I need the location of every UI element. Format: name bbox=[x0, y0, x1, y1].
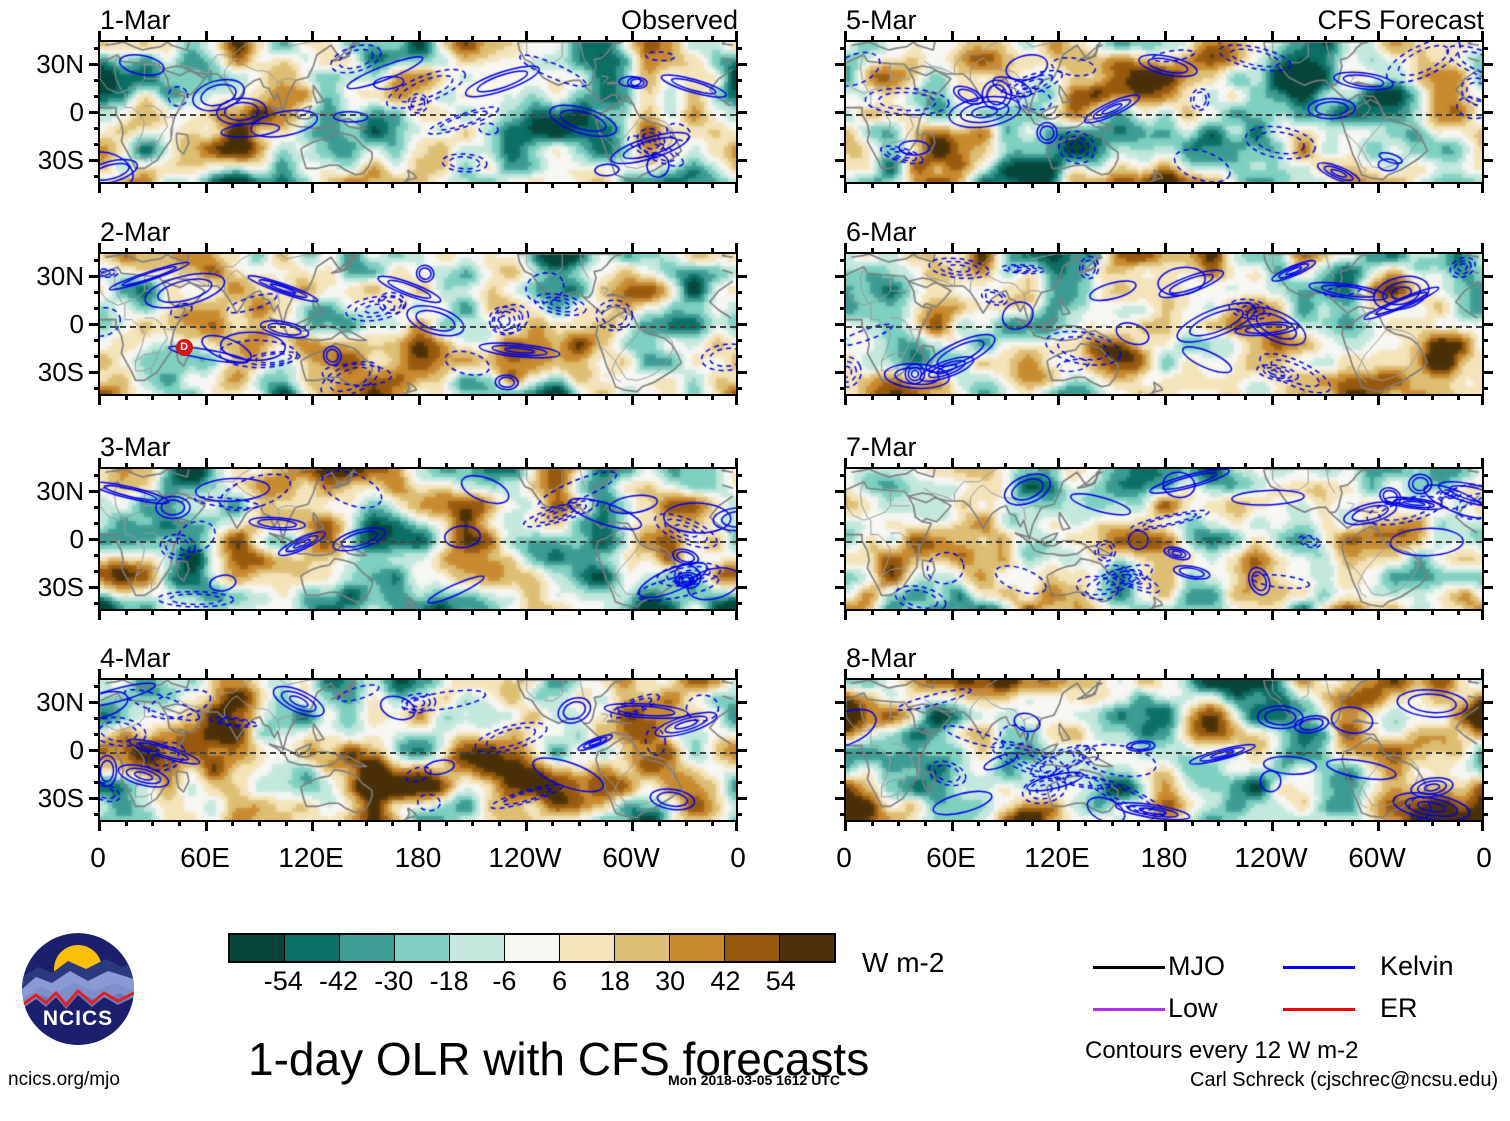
x-axis-tick bbox=[1191, 36, 1194, 42]
x-axis-tick bbox=[1084, 674, 1087, 680]
x-axis-tick bbox=[1084, 36, 1087, 42]
y-axis-tick bbox=[736, 323, 747, 326]
x-axis-label: 60E bbox=[891, 844, 1011, 872]
x-axis-tick bbox=[1031, 463, 1034, 469]
x-axis-tick bbox=[525, 820, 528, 831]
y-axis-tick bbox=[1482, 506, 1488, 509]
y-axis-label: 30S bbox=[4, 147, 84, 173]
contours-interval-note: Contours every 12 W m-2 bbox=[1085, 1039, 1358, 1063]
panel-title: 7-Mar bbox=[846, 434, 917, 461]
y-axis-tick bbox=[94, 259, 100, 262]
x-axis-tick bbox=[1004, 36, 1007, 42]
x-axis-tick bbox=[1271, 182, 1274, 193]
x-axis-tick bbox=[1271, 820, 1274, 831]
x-axis-tick bbox=[1031, 609, 1034, 615]
x-axis-tick bbox=[311, 609, 314, 620]
y-axis-tick bbox=[1482, 490, 1493, 493]
x-axis-tick bbox=[951, 609, 954, 620]
x-axis-tick bbox=[735, 182, 738, 193]
x-axis-tick bbox=[1481, 669, 1484, 680]
x-axis-tick bbox=[685, 463, 688, 469]
x-axis-tick bbox=[685, 394, 688, 400]
map-area[interactable] bbox=[98, 678, 738, 822]
x-axis-tick bbox=[1351, 609, 1354, 615]
x-axis-tick bbox=[1377, 458, 1380, 469]
y-axis-tick bbox=[736, 95, 742, 98]
x-axis-tick bbox=[1031, 394, 1034, 400]
x-axis-tick bbox=[338, 674, 341, 680]
x-axis-tick bbox=[258, 820, 261, 826]
x-axis-tick bbox=[98, 609, 101, 620]
x-axis-tick bbox=[205, 243, 208, 254]
y-axis-tick bbox=[736, 749, 747, 752]
x-axis-tick bbox=[525, 243, 528, 254]
x-axis-tick bbox=[1351, 463, 1354, 469]
x-axis-tick bbox=[897, 674, 900, 680]
y-axis-tick bbox=[840, 570, 846, 573]
x-axis-tick bbox=[871, 463, 874, 469]
x-axis-tick bbox=[471, 674, 474, 680]
x-axis-tick bbox=[1137, 674, 1140, 680]
y-axis-tick bbox=[835, 275, 846, 278]
x-axis-tick bbox=[844, 669, 847, 680]
map-area[interactable]: D bbox=[98, 252, 738, 396]
x-axis-tick bbox=[658, 394, 661, 400]
x-axis-tick bbox=[151, 674, 154, 680]
x-axis-tick bbox=[178, 394, 181, 400]
x-axis-tick bbox=[178, 248, 181, 254]
x-axis-tick bbox=[1004, 609, 1007, 615]
x-axis-tick bbox=[471, 394, 474, 400]
x-axis-tick bbox=[1481, 394, 1484, 405]
x-axis-tick bbox=[205, 669, 208, 680]
y-axis-tick bbox=[736, 307, 742, 310]
x-axis-tick bbox=[1377, 820, 1380, 831]
x-axis-tick bbox=[735, 394, 738, 405]
y-axis-tick bbox=[736, 717, 742, 720]
x-axis-tick bbox=[605, 394, 608, 400]
x-axis-tick bbox=[711, 820, 714, 826]
x-axis-tick bbox=[258, 36, 261, 42]
y-axis-tick bbox=[835, 797, 846, 800]
x-axis-tick bbox=[365, 820, 368, 826]
x-axis-tick bbox=[231, 820, 234, 826]
x-axis-tick bbox=[445, 463, 448, 469]
x-axis-tick bbox=[418, 182, 421, 193]
olr-shading-canvas bbox=[100, 42, 738, 184]
x-axis-tick bbox=[311, 820, 314, 831]
y-axis-tick bbox=[840, 781, 846, 784]
x-axis-tick bbox=[471, 609, 474, 615]
x-axis-tick bbox=[125, 248, 128, 254]
y-axis-tick bbox=[1482, 175, 1488, 178]
y-axis-tick bbox=[94, 813, 100, 816]
x-axis-tick bbox=[924, 463, 927, 469]
column-header: CFS Forecast bbox=[844, 7, 1484, 34]
x-axis-tick bbox=[1111, 463, 1114, 469]
x-axis-tick bbox=[1191, 609, 1194, 615]
x-axis-tick bbox=[338, 463, 341, 469]
map-area[interactable] bbox=[98, 40, 738, 184]
x-axis-tick bbox=[418, 609, 421, 620]
x-axis-tick bbox=[1431, 674, 1434, 680]
x-axis-tick bbox=[471, 248, 474, 254]
x-axis-tick bbox=[844, 243, 847, 254]
x-axis-tick bbox=[178, 36, 181, 42]
x-axis-tick bbox=[1031, 36, 1034, 42]
ncics-logo[interactable]: NCICS bbox=[22, 933, 134, 1045]
panel-title: 4-Mar bbox=[100, 645, 171, 672]
map-area[interactable] bbox=[844, 678, 1484, 822]
x-axis-tick bbox=[1111, 248, 1114, 254]
x-axis-tick bbox=[1031, 182, 1034, 188]
x-axis-tick bbox=[1404, 609, 1407, 615]
x-axis-tick bbox=[711, 609, 714, 615]
x-axis-tick bbox=[205, 458, 208, 469]
x-axis-tick bbox=[1297, 820, 1300, 826]
y-axis-tick bbox=[736, 781, 742, 784]
x-axis-tick bbox=[1137, 463, 1140, 469]
x-axis-tick bbox=[578, 248, 581, 254]
y-axis-tick bbox=[94, 570, 100, 573]
x-axis-tick bbox=[365, 674, 368, 680]
map-area[interactable] bbox=[844, 252, 1484, 396]
x-axis-tick bbox=[685, 609, 688, 615]
x-axis-tick bbox=[1481, 458, 1484, 469]
x-axis-tick bbox=[311, 243, 314, 254]
y-axis-tick bbox=[89, 371, 100, 374]
y-axis-tick bbox=[736, 175, 742, 178]
olr-shading-canvas bbox=[846, 680, 1484, 822]
x-axis-tick bbox=[311, 182, 314, 193]
x-axis-tick bbox=[977, 820, 980, 826]
x-axis-tick bbox=[1377, 182, 1380, 193]
x-axis-tick bbox=[98, 243, 101, 254]
y-axis-tick bbox=[835, 159, 846, 162]
olr-shading-canvas bbox=[846, 254, 1484, 396]
y-axis-tick bbox=[94, 127, 100, 130]
colorbar-swatch bbox=[725, 935, 780, 961]
x-axis-tick bbox=[924, 36, 927, 42]
x-axis-tick bbox=[711, 463, 714, 469]
x-axis-tick bbox=[1137, 820, 1140, 826]
x-axis-tick bbox=[1111, 820, 1114, 826]
y-axis-tick bbox=[736, 291, 742, 294]
x-axis-tick bbox=[897, 182, 900, 188]
y-axis-tick bbox=[840, 79, 846, 82]
x-axis-tick bbox=[151, 394, 154, 400]
x-axis-tick bbox=[631, 31, 634, 42]
x-axis-tick bbox=[685, 248, 688, 254]
y-axis-tick bbox=[1482, 538, 1493, 541]
x-axis-tick bbox=[578, 674, 581, 680]
y-axis-label: 0 bbox=[4, 99, 84, 125]
y-axis-tick bbox=[89, 538, 100, 541]
x-axis-tick bbox=[1191, 674, 1194, 680]
x-axis-tick bbox=[125, 820, 128, 826]
y-axis-tick bbox=[736, 813, 742, 816]
x-axis-tick bbox=[1244, 820, 1247, 826]
x-axis-tick bbox=[338, 394, 341, 400]
x-axis-tick bbox=[445, 609, 448, 615]
y-axis-label: 0 bbox=[4, 526, 84, 552]
y-axis-tick bbox=[94, 175, 100, 178]
y-axis-tick bbox=[736, 127, 742, 130]
y-axis-tick bbox=[835, 323, 846, 326]
x-axis-tick bbox=[711, 182, 714, 188]
x-axis-tick bbox=[1217, 609, 1220, 615]
x-axis-tick bbox=[551, 609, 554, 615]
x-axis-tick bbox=[525, 394, 528, 405]
y-axis-tick bbox=[736, 602, 742, 605]
x-axis-label: 120E bbox=[997, 844, 1117, 872]
x-axis-tick bbox=[365, 394, 368, 400]
olr-shading-canvas bbox=[100, 680, 738, 822]
x-axis-tick bbox=[445, 394, 448, 400]
x-axis-tick bbox=[871, 182, 874, 188]
y-axis-tick bbox=[736, 474, 742, 477]
x-axis-tick bbox=[1244, 36, 1247, 42]
x-axis-tick bbox=[338, 820, 341, 826]
x-axis-tick bbox=[578, 394, 581, 400]
x-axis-tick bbox=[735, 31, 738, 42]
x-axis-tick bbox=[525, 609, 528, 620]
x-axis-tick bbox=[418, 458, 421, 469]
x-axis-tick bbox=[897, 248, 900, 254]
tropical-cyclone-marker[interactable]: D bbox=[176, 339, 193, 356]
y-axis-tick bbox=[736, 538, 747, 541]
x-axis-tick bbox=[285, 394, 288, 400]
colorbar-units-label: W m-2 bbox=[862, 949, 944, 977]
y-axis-tick bbox=[840, 765, 846, 768]
x-axis-tick bbox=[871, 609, 874, 615]
x-axis-tick bbox=[338, 182, 341, 188]
x-axis-tick bbox=[1481, 243, 1484, 254]
y-axis-tick bbox=[94, 685, 100, 688]
y-axis-tick bbox=[1482, 781, 1488, 784]
x-axis-tick bbox=[871, 248, 874, 254]
x-axis-tick bbox=[951, 669, 954, 680]
x-axis-tick bbox=[391, 674, 394, 680]
x-axis-tick bbox=[871, 820, 874, 826]
x-axis-tick bbox=[1324, 463, 1327, 469]
x-axis-tick bbox=[98, 669, 101, 680]
x-axis-tick bbox=[1057, 669, 1060, 680]
x-axis-tick bbox=[1164, 182, 1167, 193]
x-axis-tick bbox=[98, 182, 101, 193]
colorbar-swatch bbox=[395, 935, 450, 961]
x-axis-tick bbox=[1084, 394, 1087, 400]
x-axis-tick bbox=[391, 394, 394, 400]
panel-title: 6-Mar bbox=[846, 219, 917, 246]
y-axis-tick bbox=[1482, 95, 1488, 98]
legend-line-low bbox=[1093, 1008, 1165, 1011]
y-axis-tick bbox=[1482, 387, 1488, 390]
y-axis-label: 0 bbox=[4, 311, 84, 337]
x-axis-tick bbox=[1057, 182, 1060, 193]
x-axis-tick bbox=[125, 182, 128, 188]
x-axis-label: 0 bbox=[784, 844, 904, 872]
x-axis-tick bbox=[1377, 394, 1380, 405]
x-axis-tick bbox=[125, 674, 128, 680]
y-axis-tick bbox=[89, 749, 100, 752]
x-axis-tick bbox=[631, 243, 634, 254]
map-area[interactable] bbox=[844, 467, 1484, 611]
x-axis-tick bbox=[1351, 674, 1354, 680]
y-axis-tick bbox=[1482, 47, 1488, 50]
x-axis-tick bbox=[445, 820, 448, 826]
x-axis-tick bbox=[1324, 609, 1327, 615]
x-axis-tick bbox=[98, 394, 101, 405]
x-axis-tick bbox=[258, 463, 261, 469]
map-area[interactable] bbox=[98, 467, 738, 611]
colorbar-swatch bbox=[670, 935, 725, 961]
x-axis-tick bbox=[924, 248, 927, 254]
x-axis-tick bbox=[1457, 36, 1460, 42]
y-axis-tick bbox=[835, 371, 846, 374]
timestamp: Mon 2018-03-05 1612 UTC bbox=[668, 1073, 840, 1087]
x-axis-tick bbox=[1164, 820, 1167, 831]
x-axis-tick bbox=[231, 182, 234, 188]
colorbar-tick-label: 54 bbox=[741, 968, 821, 995]
x-axis-tick bbox=[658, 36, 661, 42]
x-axis-tick bbox=[151, 36, 154, 42]
y-axis-tick bbox=[1482, 522, 1488, 525]
y-axis-tick bbox=[1482, 474, 1488, 477]
colorbar-swatch bbox=[285, 935, 340, 961]
x-axis-tick bbox=[1057, 31, 1060, 42]
x-axis-tick bbox=[258, 182, 261, 188]
equator-line bbox=[100, 114, 736, 116]
x-axis-tick bbox=[498, 36, 501, 42]
x-axis-tick bbox=[1404, 248, 1407, 254]
y-axis-tick bbox=[94, 765, 100, 768]
x-axis-tick bbox=[391, 248, 394, 254]
x-axis-tick bbox=[471, 182, 474, 188]
x-axis-tick bbox=[1164, 458, 1167, 469]
x-axis-tick bbox=[258, 674, 261, 680]
x-axis-label: 60W bbox=[1317, 844, 1437, 872]
y-axis-tick bbox=[94, 602, 100, 605]
y-axis-tick bbox=[840, 127, 846, 130]
olr-shading-canvas bbox=[100, 254, 738, 396]
y-axis-tick bbox=[1482, 749, 1493, 752]
y-axis-tick bbox=[94, 781, 100, 784]
x-axis-tick bbox=[1431, 463, 1434, 469]
x-axis-tick bbox=[1031, 674, 1034, 680]
x-axis-tick bbox=[1297, 463, 1300, 469]
x-axis-tick bbox=[1431, 820, 1434, 826]
x-axis-tick bbox=[1111, 182, 1114, 188]
x-axis-tick bbox=[205, 31, 208, 42]
x-axis-tick bbox=[551, 394, 554, 400]
x-axis-tick bbox=[1481, 31, 1484, 42]
x-axis-tick bbox=[578, 820, 581, 826]
x-axis-tick bbox=[551, 820, 554, 826]
x-axis-tick bbox=[391, 609, 394, 615]
olr-shading-canvas bbox=[100, 469, 738, 611]
x-axis-tick bbox=[1164, 669, 1167, 680]
y-axis-tick bbox=[1482, 307, 1488, 310]
y-axis-tick bbox=[1482, 111, 1493, 114]
x-axis-tick bbox=[1351, 394, 1354, 400]
x-axis-tick bbox=[1377, 609, 1380, 620]
x-axis-tick bbox=[977, 394, 980, 400]
x-axis-tick bbox=[605, 609, 608, 615]
x-axis-tick bbox=[231, 609, 234, 615]
x-axis-tick bbox=[685, 820, 688, 826]
y-axis-tick bbox=[736, 554, 742, 557]
x-axis-tick bbox=[1431, 609, 1434, 615]
y-axis-tick bbox=[1482, 554, 1488, 557]
y-axis-tick bbox=[736, 63, 747, 66]
x-axis-tick bbox=[871, 394, 874, 400]
x-axis-tick bbox=[578, 463, 581, 469]
column-header: Observed bbox=[98, 7, 738, 34]
equator-line bbox=[846, 326, 1482, 328]
x-axis-tick bbox=[631, 820, 634, 831]
x-axis-tick bbox=[98, 820, 101, 831]
x-axis-tick bbox=[1351, 182, 1354, 188]
x-axis-tick bbox=[525, 458, 528, 469]
y-axis-tick bbox=[835, 490, 846, 493]
x-axis-tick bbox=[605, 463, 608, 469]
x-axis-tick bbox=[1271, 31, 1274, 42]
x-axis-tick bbox=[1004, 248, 1007, 254]
y-axis-tick bbox=[835, 111, 846, 114]
x-axis-tick bbox=[844, 820, 847, 831]
x-axis-tick bbox=[258, 394, 261, 400]
x-axis-tick bbox=[178, 182, 181, 188]
x-axis-tick bbox=[631, 394, 634, 405]
x-axis-tick bbox=[951, 394, 954, 405]
x-axis-tick bbox=[1217, 394, 1220, 400]
x-axis-tick bbox=[711, 36, 714, 42]
x-axis-tick bbox=[658, 674, 661, 680]
site-url: ncics.org/mjo bbox=[8, 1070, 120, 1089]
map-area[interactable] bbox=[844, 40, 1484, 184]
y-axis-tick bbox=[736, 143, 742, 146]
y-axis-tick bbox=[1482, 259, 1488, 262]
x-axis-tick bbox=[285, 609, 288, 615]
x-axis-tick bbox=[418, 394, 421, 405]
y-axis-tick bbox=[1482, 79, 1488, 82]
x-axis-tick bbox=[1244, 248, 1247, 254]
x-axis-tick bbox=[391, 463, 394, 469]
y-axis-tick bbox=[736, 111, 747, 114]
legend-label-mjo: MJO bbox=[1168, 953, 1225, 980]
x-axis-label: 0 bbox=[1424, 844, 1510, 872]
x-axis-tick bbox=[1137, 394, 1140, 400]
x-axis-tick bbox=[205, 182, 208, 193]
y-axis-tick bbox=[840, 259, 846, 262]
x-axis-tick bbox=[231, 36, 234, 42]
y-axis-tick bbox=[94, 339, 100, 342]
y-axis-tick bbox=[1482, 143, 1488, 146]
y-axis-tick bbox=[840, 387, 846, 390]
x-axis-tick bbox=[125, 609, 128, 615]
x-axis-tick bbox=[871, 36, 874, 42]
x-axis-tick bbox=[1031, 820, 1034, 826]
x-axis-tick bbox=[311, 458, 314, 469]
legend-label-low: Low bbox=[1168, 995, 1218, 1022]
x-axis-tick bbox=[498, 609, 501, 615]
x-axis-tick bbox=[924, 820, 927, 826]
colorbar bbox=[228, 933, 836, 963]
x-axis-tick bbox=[231, 248, 234, 254]
x-axis-tick bbox=[1324, 36, 1327, 42]
x-axis-tick bbox=[1351, 36, 1354, 42]
